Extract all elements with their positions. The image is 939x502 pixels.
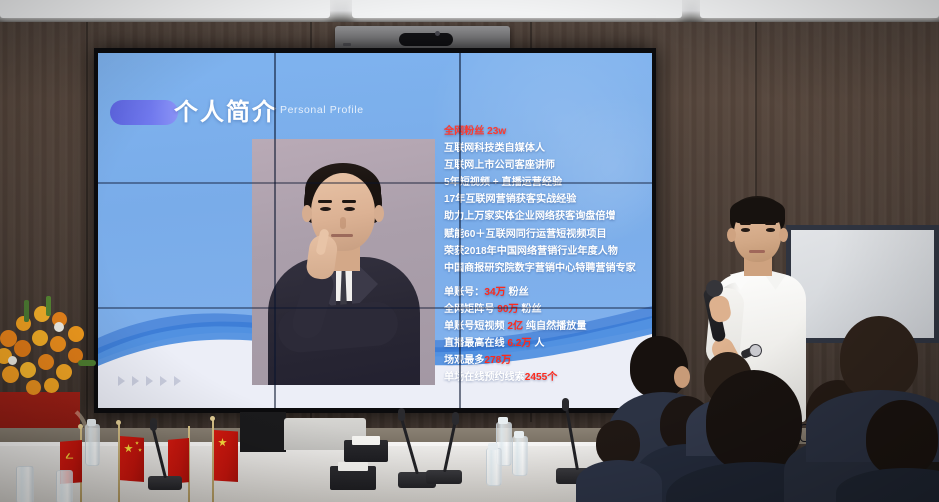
presenter-ear: [779, 228, 788, 242]
flower: [14, 340, 31, 357]
stat-label: 场观最多: [444, 355, 484, 366]
stat-label: 单账号短视频: [444, 321, 507, 332]
presenter-eyebrow: [765, 222, 776, 225]
bottle-cap: [514, 431, 524, 438]
bullet-item: 互联网科技类自媒体人: [444, 144, 644, 154]
stat-suffix: 纯自然播放量: [523, 321, 586, 332]
triangle-arrow-icon: [160, 376, 167, 386]
chinese-national-flag: [214, 430, 238, 482]
stat-value: 6.2万: [507, 338, 531, 349]
portrait-ear: [374, 205, 384, 222]
bullet-item: 全网粉丝 23w: [444, 127, 644, 137]
microphone-capsule: [452, 412, 459, 425]
display-bezel: [98, 307, 652, 309]
name-card: [338, 462, 368, 471]
portrait-eye: [344, 207, 355, 211]
ceiling-light-panel: [700, 0, 939, 18]
bullet-item: 中国商报研究院数字营销中心特聘营销专家: [444, 264, 644, 274]
conference-room-scene: 个人简介 Personal Profile: [0, 0, 939, 502]
presenter-eyebrow: [740, 222, 751, 225]
camera-indicator-icon: [435, 31, 440, 36]
stat-suffix: 粉丝: [506, 287, 529, 298]
flower: [26, 380, 41, 395]
water-bottle: [56, 470, 73, 502]
stat-value: 2455个: [525, 372, 558, 383]
slide-title-en: Personal Profile: [280, 104, 364, 116]
display-bezel: [274, 53, 276, 408]
bullet-item: 17年互联网营销获客实战经验: [444, 195, 644, 205]
ceiling-light-panel: [0, 0, 330, 18]
portrait-ear: [302, 205, 312, 222]
flag-pole-top: [78, 424, 83, 429]
presenter-ear: [727, 228, 736, 242]
water-bottle: [512, 436, 528, 476]
bottle-cap: [498, 417, 508, 424]
audience-head: [706, 370, 802, 472]
camera-lens-icon: [399, 33, 453, 46]
flag-pole-top: [210, 416, 215, 421]
flower-stem: [46, 296, 51, 316]
stat-item: 场观最多278万: [444, 356, 644, 366]
flag-pole-top: [116, 420, 121, 425]
flower-arrangement: [0, 296, 98, 404]
display-bezel: [98, 182, 652, 184]
bullet-item: 互联网上市公司客座讲师: [444, 161, 644, 171]
bullet-item: 助力上万家实体企业网络获客询盘倍增: [444, 212, 644, 222]
name-card: [352, 436, 380, 445]
speaker-portrait-photo: [252, 139, 435, 385]
portrait-eyebrow: [318, 200, 332, 203]
stat-suffix: 人: [532, 338, 545, 349]
presentation-slide: 个人简介 Personal Profile: [98, 53, 652, 408]
presenter-hair-top: [730, 198, 785, 224]
slide-text-column: 全网粉丝 23w 互联网科技类自媒体人 互联网上市公司客座讲师 5年短视频 + …: [444, 127, 644, 390]
flag-pole: [212, 420, 214, 502]
flower-white: [54, 322, 64, 332]
stat-item: 直播最高在线 6.2万 人: [444, 339, 644, 349]
microphone-capsule: [150, 418, 157, 431]
bottle-cap: [488, 443, 498, 450]
title-accent-pill: [110, 100, 178, 125]
presenter-eye: [766, 228, 775, 232]
stat-value: 90万: [497, 304, 518, 315]
water-bottle: [85, 424, 100, 466]
flower: [2, 366, 19, 383]
stat-item: 单账号短视频 2亿 纯自然播放量: [444, 322, 644, 332]
flower: [44, 378, 59, 393]
chinese-national-flag: [120, 436, 144, 482]
flower-white: [8, 356, 17, 365]
stat-item: 单场在线预约线索2455个: [444, 373, 644, 383]
stat-value: 34万: [484, 287, 505, 298]
triangle-arrow-icon: [132, 376, 139, 386]
audience-head: [866, 400, 938, 476]
stat-suffix: 粉丝: [519, 304, 542, 315]
slide-title-cn: 个人简介: [174, 92, 278, 127]
flower: [20, 362, 36, 378]
triangle-arrow-icon: [118, 376, 125, 386]
flower: [50, 336, 66, 352]
flower-stem: [24, 300, 29, 322]
audience-head: [840, 316, 918, 400]
microphone-capsule: [398, 408, 405, 421]
flower: [32, 330, 48, 346]
presenter-eye: [741, 228, 750, 232]
stat-label: 直播最高在线: [444, 338, 507, 349]
flower: [56, 364, 72, 380]
bullet-item: 荣获2018年中国网络营销行业年度人物: [444, 247, 644, 257]
flower: [68, 326, 84, 342]
bullet-item: 赋能60＋互联网同行运营短视频项目: [444, 230, 644, 240]
water-bottle: [486, 448, 502, 486]
flag-pole: [118, 424, 120, 502]
slide-arrow-decor: [118, 376, 181, 386]
audience-ear: [674, 366, 690, 388]
stat-item: 单账号：34万 粉丝: [444, 288, 644, 298]
portrait-mouth: [331, 234, 353, 237]
triangle-arrow-icon: [174, 376, 181, 386]
stat-label: 全网矩阵号: [444, 304, 497, 315]
portrait-nose: [340, 217, 346, 229]
flower-leaf: [78, 360, 96, 366]
display-bezel: [459, 53, 461, 408]
stat-value: 2亿: [507, 321, 523, 332]
ceiling-light-panel: [352, 0, 682, 18]
microphone-capsule: [562, 398, 569, 411]
portrait-eyebrow: [342, 200, 356, 203]
stat-label: 单账号：: [444, 287, 484, 298]
water-bottle: [16, 466, 34, 502]
equipment-box: [240, 412, 286, 452]
camera-brand-logo: [343, 43, 351, 46]
video-wall-display[interactable]: 个人简介 Personal Profile: [94, 48, 656, 413]
flower: [38, 354, 54, 370]
presenter-mouth: [749, 250, 765, 253]
stat-value: 278万: [484, 355, 511, 366]
triangle-arrow-icon: [146, 376, 153, 386]
audience-shoulders: [576, 460, 662, 502]
stat-label: 单场在线预约线索: [444, 372, 525, 383]
bottle-cap: [87, 419, 96, 426]
portrait-eye: [320, 207, 331, 211]
